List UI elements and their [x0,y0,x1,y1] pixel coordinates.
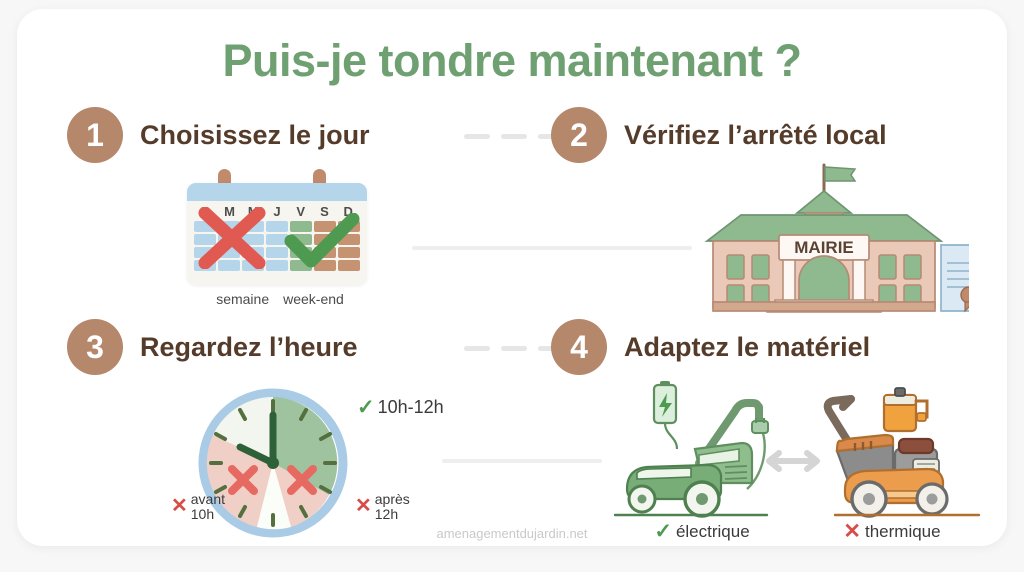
step-2-header: 2 Vérifiez l’arrêté local [551,107,887,163]
check-green-icon: ✓ [357,395,375,420]
infographic-card: Puis-je tondre maintenant ? 1 Choisissez… [17,9,1007,546]
step-2-badge: 2 [551,107,607,163]
check-green-icon [283,213,361,271]
thermal-mower-icon [828,388,979,516]
clock-after-line-2: 12h [375,507,410,522]
step-4-header: 4 Adaptez le matériel [551,319,870,375]
cross-red-icon [197,207,267,269]
step-1-choisissez-le-jour: 1 Choisissez le jour L M M J V S D [45,107,515,312]
calendar-icon: L M M J V S D [175,169,385,314]
step-1-title: Choisissez le jour [140,120,370,151]
calendar-header-bar [187,183,367,201]
step-3-title: Regardez l’heure [140,332,358,363]
cross-red-icon: ✕ [171,496,188,517]
calendar-week-label: semaine [216,291,269,307]
step-4-adaptez-materiel: 4 Adaptez le matériel [529,319,999,524]
calendar-weekend-label: week-end [283,291,344,307]
clock-before-line-1: avant [191,492,225,507]
step-1-badge: 1 [67,107,123,163]
exchange-arrows-icon [769,453,817,469]
footer-watermark: amenagementdujardin.net [17,526,1007,541]
step-3-badge: 3 [67,319,123,375]
clock-illustration: ✓ 10h-12h ✕ avant 10h ✕ après 12h [165,379,465,539]
step-3-regardez-heure: 3 Regardez l’heure [45,319,515,524]
clock-allowed-text: 10h-12h [378,397,444,418]
mairie-sign-text: MAIRIE [794,238,854,257]
page-title: Puis-je tondre maintenant ? [17,35,1007,87]
cross-red-icon: ✕ [355,496,372,517]
step-2-verifiez-arrete-local: 2 Vérifiez l’arrêté local MAIRIE [529,107,999,312]
clock-after-label: ✕ après 12h [355,492,410,521]
calendar-labels: semaine week-end [175,291,385,307]
lawn-mowers-icon [607,377,987,527]
clock-after-line-1: après [375,492,410,507]
step-3-header: 3 Regardez l’heure [67,319,358,375]
step-2-title: Vérifiez l’arrêté local [624,120,887,151]
step-4-title: Adaptez le matériel [624,332,870,363]
electric-mower-icon [615,381,768,516]
clock-before-label: ✕ avant 10h [171,492,225,521]
step-4-badge: 4 [551,319,607,375]
clock-allowed-label: ✓ 10h-12h [357,395,444,420]
step-1-header: 1 Choisissez le jour [67,107,370,163]
town-hall-icon: MAIRIE [679,159,969,319]
clock-before-line-2: 10h [191,507,225,522]
